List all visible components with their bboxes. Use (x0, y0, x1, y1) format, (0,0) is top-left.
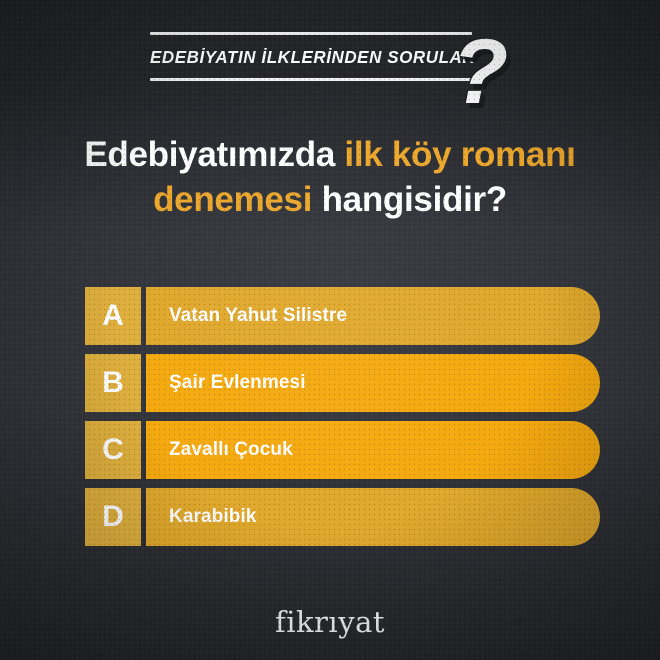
answer-option-b[interactable]: B Şair Evlenmesi (85, 354, 600, 412)
answer-options-list: A Vatan Yahut Silistre B Şair Evlenmesi … (85, 287, 600, 555)
header-banner: EDEBİYATIN İLKLERİNDEN SORULAR ? (0, 22, 660, 104)
option-letter-c: C (85, 421, 141, 479)
quiz-poster: EDEBİYATIN İLKLERİNDEN SORULAR ? Edebiya… (0, 0, 660, 660)
option-label-a[interactable]: Vatan Yahut Silistre (146, 287, 600, 345)
banner-title: EDEBİYATIN İLKLERİNDEN SORULAR (150, 38, 470, 76)
answer-option-a[interactable]: A Vatan Yahut Silistre (85, 287, 600, 345)
question-text: Edebiyatımızda ilk köy romanı denemesi h… (30, 132, 630, 222)
banner-rule-top (150, 32, 472, 35)
question-segment-plain-2: hangisidir? (312, 180, 507, 219)
option-letter-d: D (85, 488, 141, 546)
question-segment-plain-1: Edebiyatımızda (84, 135, 344, 174)
answer-option-c[interactable]: C Zavallı Çocuk (85, 421, 600, 479)
answer-option-d[interactable]: D Karabibik (85, 488, 600, 546)
banner-rule-bottom (150, 78, 472, 81)
option-label-d[interactable]: Karabibik (146, 488, 600, 546)
question-mark-icon: ? (452, 26, 506, 118)
option-label-c[interactable]: Zavallı Çocuk (146, 421, 600, 479)
question-segment-space (451, 135, 460, 174)
option-label-b[interactable]: Şair Evlenmesi (146, 354, 600, 412)
option-letter-a: A (85, 287, 141, 345)
option-letter-b: B (85, 354, 141, 412)
fikriyat-logo: fikrıyat (0, 608, 660, 637)
question-segment-highlight-1: ilk köy (344, 135, 451, 174)
